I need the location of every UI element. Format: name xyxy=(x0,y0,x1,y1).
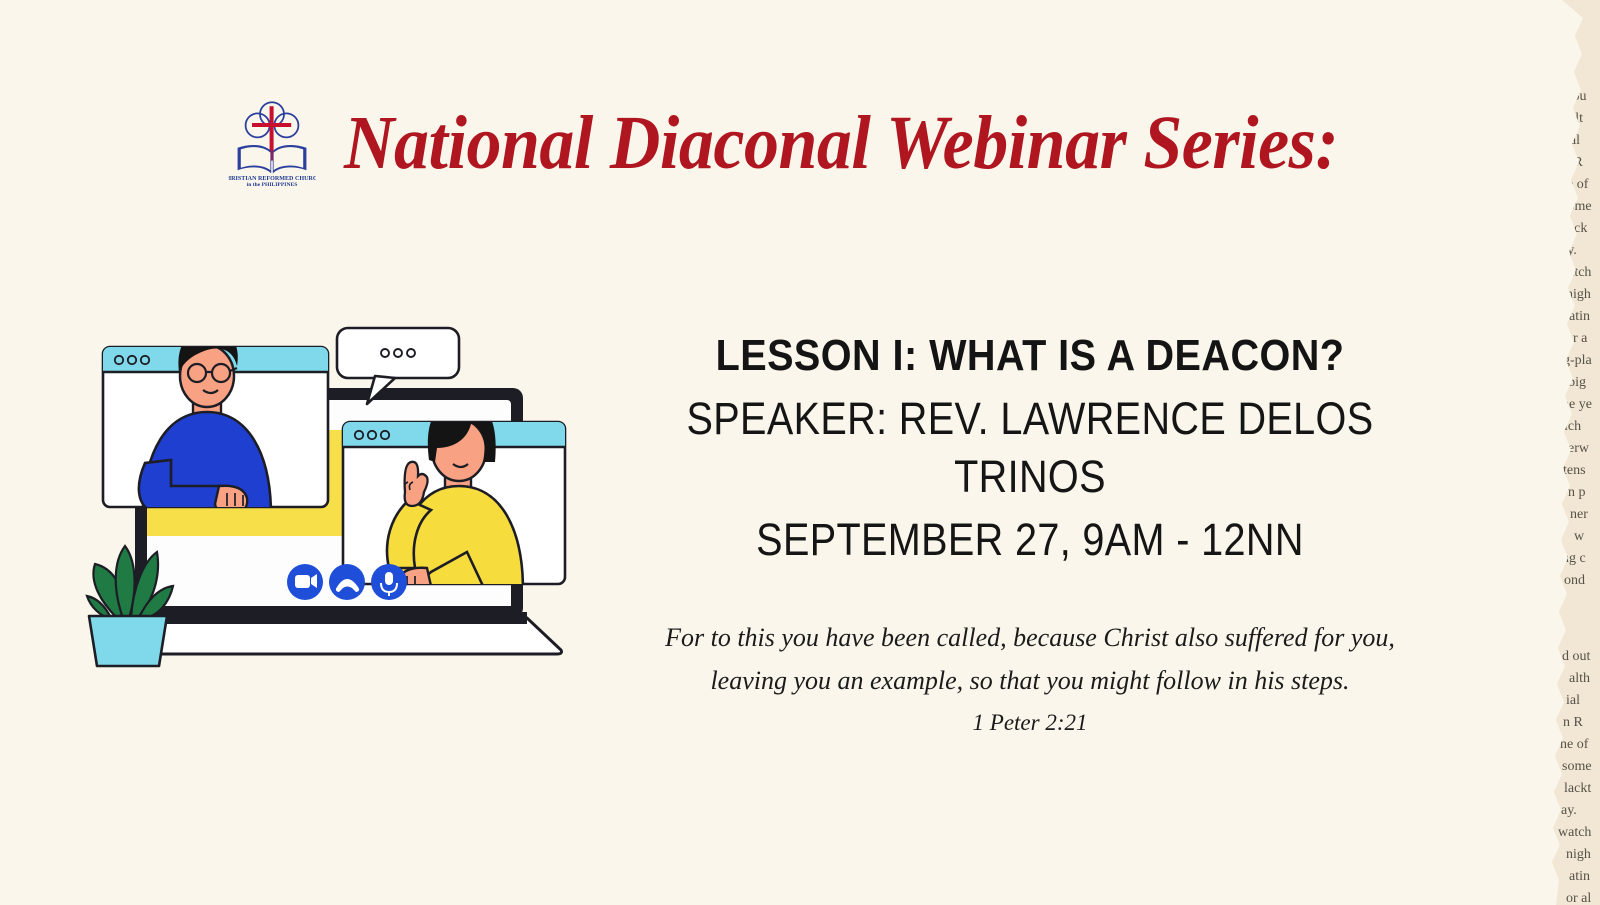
svg-text:d ou: d ou xyxy=(1562,89,1587,104)
logo-org-line2: in the PHILIPPINES xyxy=(247,182,298,188)
video-call-illustration xyxy=(75,300,585,672)
crcp-cross-book-logo: CHRISTIAN REFORMED CHURCH in the PHILIPP… xyxy=(228,98,316,188)
svg-text:ng c: ng c xyxy=(1562,551,1586,566)
svg-text:n p: n p xyxy=(1568,485,1586,500)
crcp-logo: CHRISTIAN REFORMED CHURCH in the PHILIPP… xyxy=(228,98,316,188)
scripture-reference: 1 Peter 2:21 xyxy=(600,710,1460,736)
svg-text:or a: or a xyxy=(1566,331,1588,346)
logo-org-line1: CHRISTIAN REFORMED CHURCH xyxy=(228,176,316,182)
svg-text:tens: tens xyxy=(1563,463,1586,478)
svg-text:watch: watch xyxy=(1558,265,1591,280)
scripture-line-2: leaving you an example, so that you migh… xyxy=(600,660,1460,702)
video-window-right xyxy=(343,400,565,596)
svg-text:ial: ial xyxy=(1566,693,1580,708)
svg-text:lack: lack xyxy=(1564,221,1587,236)
svg-text:ne of: ne of xyxy=(1560,177,1589,192)
svg-text:d out: d out xyxy=(1562,649,1591,664)
svg-text:f big: f big xyxy=(1560,375,1586,390)
svg-text:ay.: ay. xyxy=(1561,803,1577,818)
svg-text:ond: ond xyxy=(1564,573,1585,588)
poster-header: CHRISTIAN REFORMED CHURCH in the PHILIPP… xyxy=(228,98,1425,188)
svg-text:n R: n R xyxy=(1563,155,1584,170)
series-title: National Diaconal Webinar Series: xyxy=(344,105,1338,181)
scripture-line-1: For to this you have been called, becaus… xyxy=(600,617,1460,659)
svg-text:some: some xyxy=(1562,759,1592,774)
webinar-poster: CHRISTIAN REFORMED CHURCH in the PHILIPP… xyxy=(0,0,1600,905)
svg-text:ay.: ay. xyxy=(1561,243,1577,258)
torn-newspaper-strip: d ou alt ial n R ne of some lack ay. wat… xyxy=(1522,0,1600,905)
svg-text:some: some xyxy=(1562,199,1592,214)
scripture-quote: For to this you have been called, becaus… xyxy=(600,617,1460,701)
svg-text:alth: alth xyxy=(1569,671,1590,686)
svg-text:ich: ich xyxy=(1564,419,1581,434)
svg-text:w: w xyxy=(1574,529,1585,544)
svg-text:nigh: nigh xyxy=(1566,847,1591,862)
svg-text:alt: alt xyxy=(1569,111,1583,126)
svg-text:nigh: nigh xyxy=(1566,287,1591,302)
microphone-button[interactable] xyxy=(371,564,407,600)
svg-text:ner: ner xyxy=(1570,507,1588,522)
svg-text:or al: or al xyxy=(1566,891,1591,905)
svg-text:atin: atin xyxy=(1569,309,1590,324)
lesson-title: LESSON I: WHAT IS A DEACON? xyxy=(643,330,1417,382)
video-camera-button[interactable] xyxy=(287,564,323,600)
svg-text:watch: watch xyxy=(1558,825,1591,840)
call-controls[interactable] xyxy=(287,564,407,600)
svg-text:ne of: ne of xyxy=(1560,737,1589,752)
end-call-button[interactable] xyxy=(329,564,365,600)
main-content: LESSON I: WHAT IS A DEACON? SPEAKER: REV… xyxy=(600,330,1460,736)
svg-text:atin: atin xyxy=(1569,869,1590,884)
speaker-line: SPEAKER: REV. LAWRENCE DELOS TRINOS xyxy=(652,390,1409,507)
svg-text:berw: berw xyxy=(1561,441,1590,456)
date-time-line: SEPTEMBER 27, 9AM - 12NN xyxy=(652,511,1409,570)
svg-text:g-pla: g-pla xyxy=(1563,353,1593,368)
svg-text:n R: n R xyxy=(1563,715,1584,730)
svg-text:ne ye: ne ye xyxy=(1562,397,1592,412)
svg-text:ial: ial xyxy=(1566,133,1580,148)
svg-text:lackt: lackt xyxy=(1564,781,1591,796)
video-window-left xyxy=(103,328,328,515)
